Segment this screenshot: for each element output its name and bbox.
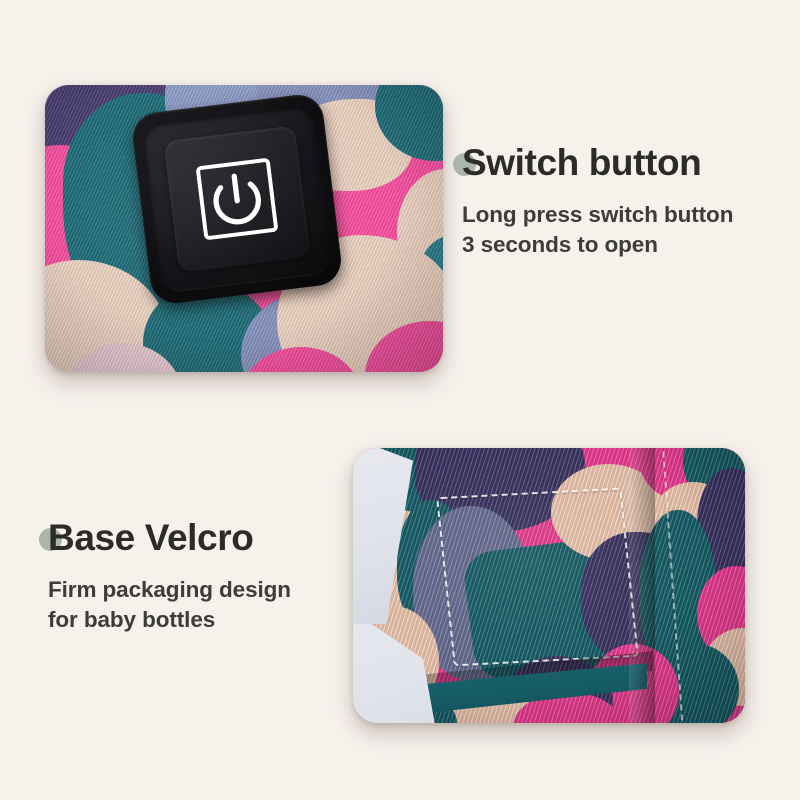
switch-button-heading: Switch button	[462, 143, 701, 183]
velcro-patch-stitching	[436, 488, 639, 667]
description-line: for baby bottles	[48, 605, 368, 635]
description-line: 3 seconds to open	[462, 230, 792, 260]
velcro-photo-inner	[353, 448, 745, 723]
power-icon	[188, 150, 286, 248]
base-velcro-heading: Base Velcro	[48, 518, 253, 558]
switch-button-text-block: Switch button Long press switch button 3…	[462, 143, 792, 260]
description-line: Firm packaging design	[48, 575, 368, 605]
base-velcro-photo	[353, 448, 745, 723]
switch-heading-wrap: Switch button	[462, 143, 701, 183]
infographic-page: Switch button Long press switch button 3…	[0, 0, 800, 800]
description-line: Long press switch button	[462, 200, 792, 230]
switch-button-description: Long press switch button 3 seconds to op…	[462, 200, 792, 260]
switch-photo-inner	[45, 85, 443, 372]
velcro-heading-wrap: Base Velcro	[48, 518, 253, 558]
switch-button-photo	[45, 85, 443, 372]
base-velcro-description: Firm packaging design for baby bottles	[48, 575, 368, 635]
power-button-pad[interactable]	[130, 92, 344, 306]
base-velcro-text-block: Base Velcro Firm packaging design for ba…	[48, 518, 368, 635]
